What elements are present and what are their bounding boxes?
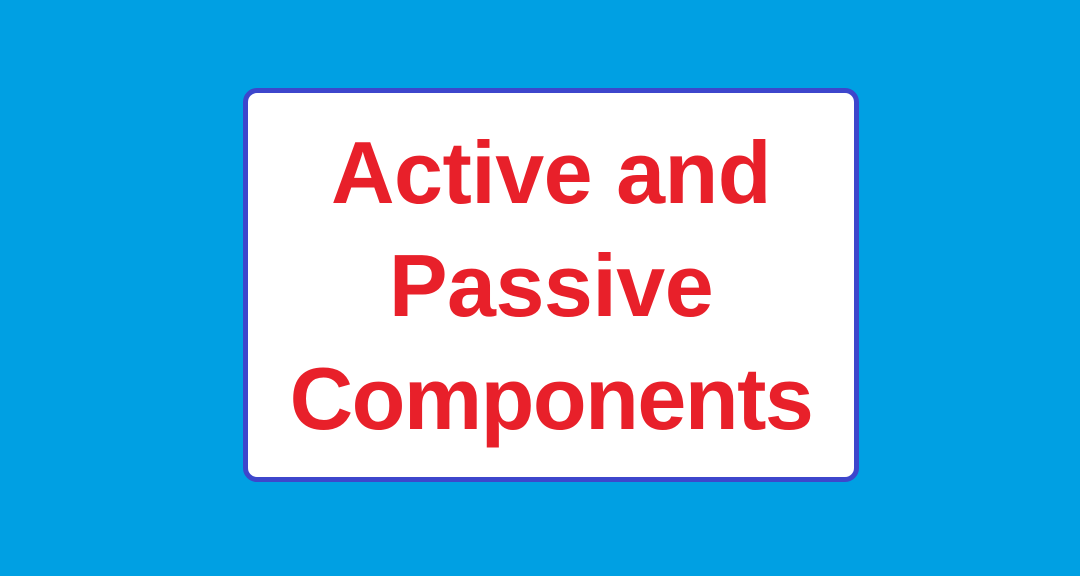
title-card: Active and Passive Components [243,88,859,482]
title-line-3: Components [254,342,848,455]
slide-canvas: Active and Passive Components [0,0,1080,576]
slide-title: Active and Passive Components [248,116,854,455]
title-line-1: Active and [254,116,848,229]
title-line-2: Passive [254,229,848,342]
